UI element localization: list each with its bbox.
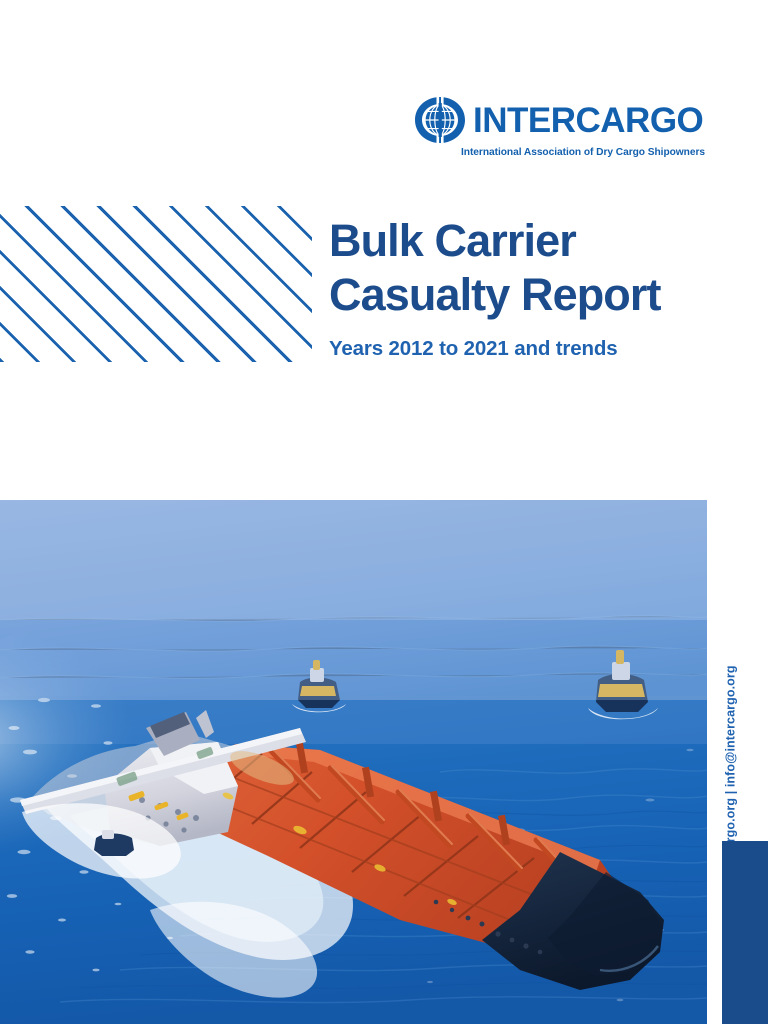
diagonal-stripe-pattern [0, 206, 312, 362]
cover-photograph [0, 500, 707, 1024]
intercargo-wordmark: INTERCARGO [473, 103, 703, 138]
logo-row: INTERCARGO [413, 96, 705, 144]
title-line-2: Casualty Report [329, 268, 749, 322]
title-line-1: Bulk Carrier [329, 214, 749, 268]
cover-subtitle: Years 2012 to 2021 and trends [329, 337, 749, 362]
intercargo-logo[interactable]: INTERCARGO International Association of … [413, 96, 705, 164]
report-cover-page: INTERCARGO International Association of … [0, 0, 768, 1024]
intercargo-globe-icon [413, 95, 467, 145]
contact-strip: www.intercargo.org | info@intercargo.org [716, 498, 746, 798]
intercargo-tagline: International Association of Dry Cargo S… [413, 147, 705, 158]
cover-title-block: Bulk Carrier Casualty Report Years 2012 … [329, 214, 749, 362]
corner-accent-block [722, 841, 768, 1024]
